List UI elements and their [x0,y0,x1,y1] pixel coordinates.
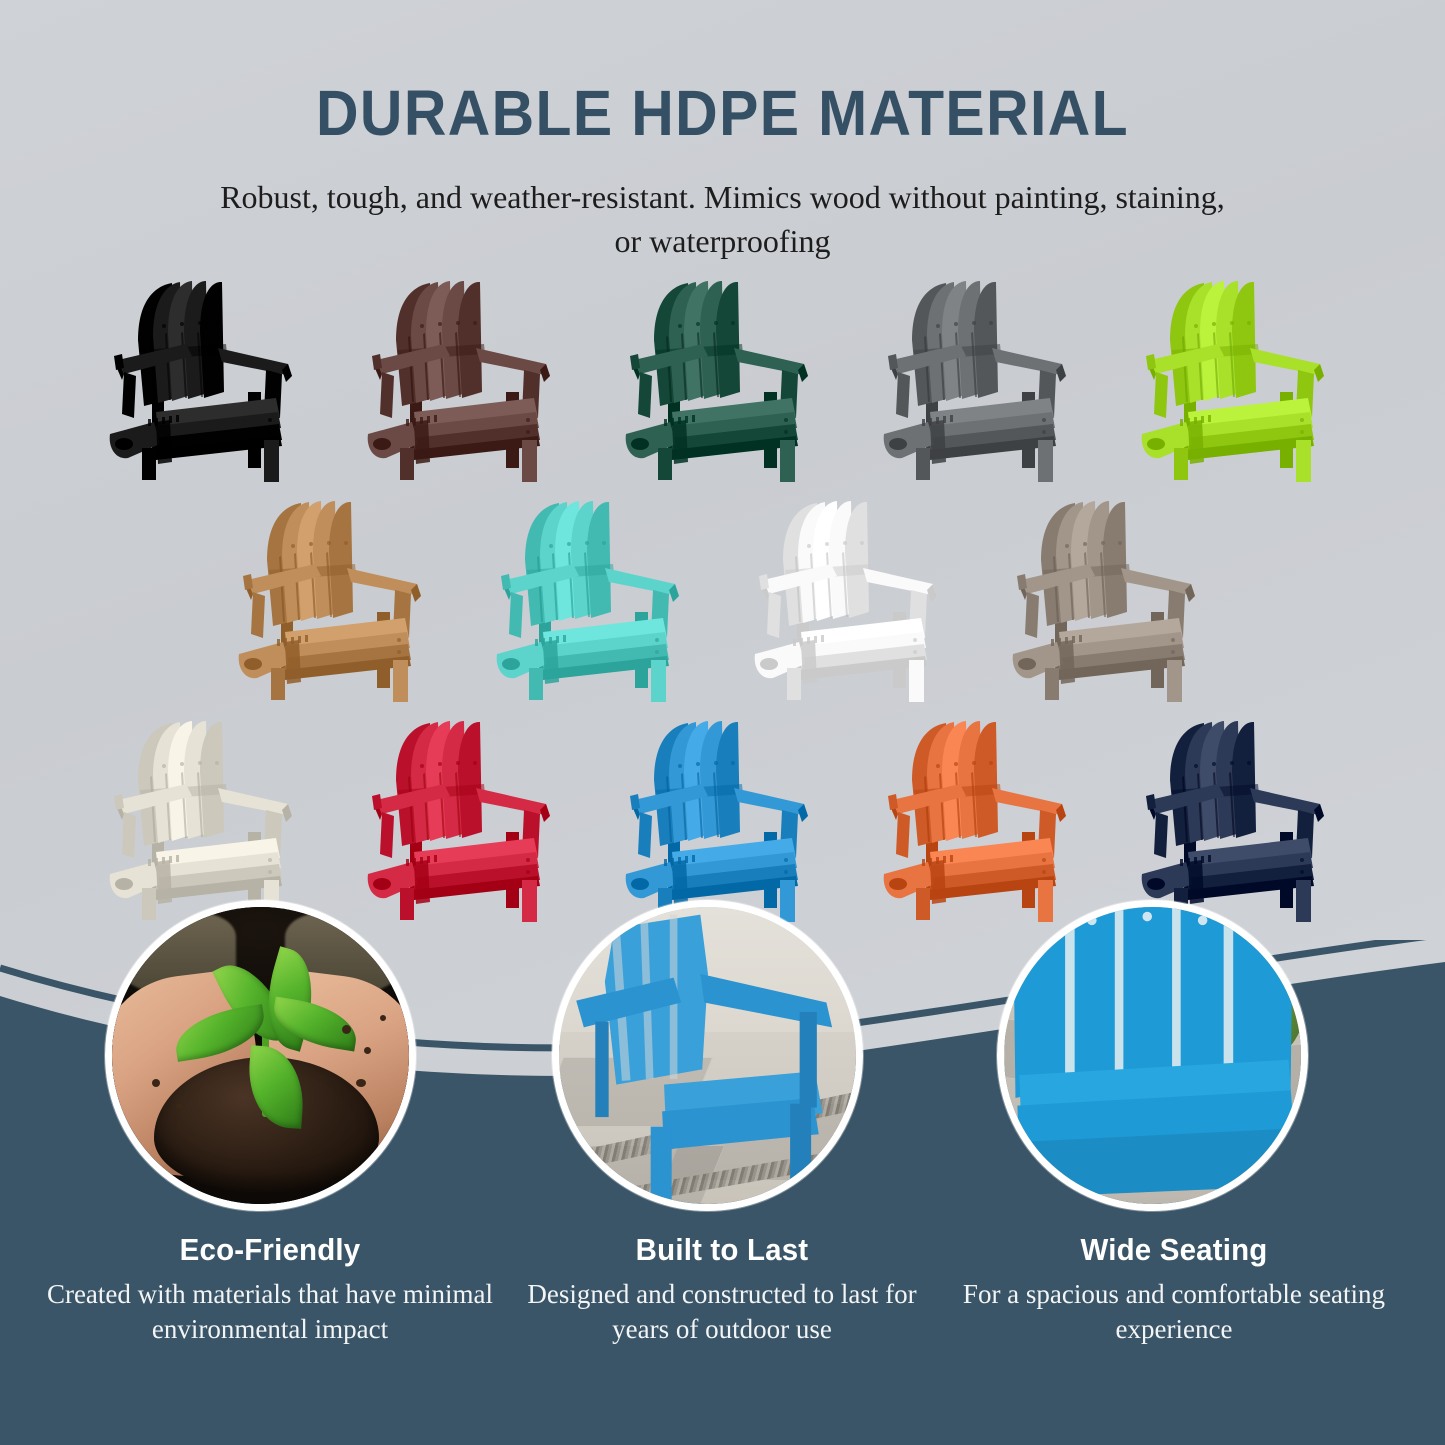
chair-row-1 [0,272,1445,484]
chair-swatch-dark-green[interactable] [614,272,832,484]
chair-swatch-light-blue[interactable] [614,712,832,924]
chair-swatch-gray[interactable] [872,272,1090,484]
chair-black [98,272,316,484]
chair-brown [356,272,574,484]
adirondack-chair-icon [614,272,832,484]
adirondack-chair-icon [1001,492,1219,704]
feature-photo-wide-seating [997,900,1308,1211]
feature-heading: Built to Last [508,1232,936,1268]
blue-chair-photo-shape [576,915,832,1203]
chair-swatch-weathered-wood[interactable] [1001,492,1219,704]
photo-blue-chair-patio [559,907,856,1204]
feature-photo-built-to-last [552,900,863,1211]
chair-swatch-orange[interactable] [872,712,1090,924]
adirondack-chair-icon [743,492,961,704]
chair-dark-green [614,272,832,484]
chair-ivory [98,712,316,924]
chair-orange [872,712,1090,924]
page-subtitle: Robust, tough, and weather-resistant. Mi… [218,175,1228,263]
chair-swatch-lime-green[interactable] [1130,272,1348,484]
infographic-canvas: DURABLE HDPE MATERIAL Robust, tough, and… [0,0,1445,1445]
chair-navy-blue [1130,712,1348,924]
adirondack-chair-icon [872,712,1090,924]
adirondack-chair-icon [356,712,574,924]
chair-row-2 [0,492,1445,704]
feature-body: Created with materials that have minimal… [45,1277,495,1347]
adirondack-chair-icon [98,272,316,484]
chair-swatch-navy-blue[interactable] [1130,712,1348,924]
chair-lime-green [1130,272,1348,484]
chair-swatch-white[interactable] [743,492,961,704]
chair-gray [872,272,1090,484]
chair-swatch-turquoise[interactable] [485,492,703,704]
feature-body: Designed and constructed to last for yea… [497,1277,947,1347]
blue-seat-closeup-shape [1014,907,1297,1197]
chair-light-blue [614,712,832,924]
feature-heading: Eco-Friendly [56,1232,484,1268]
adirondack-chair-icon [872,272,1090,484]
feature-wide-seating: Wide Seating For a spacious and comforta… [948,1232,1400,1347]
chair-turquoise [485,492,703,704]
chair-teak [227,492,445,704]
chair-row-3 [0,712,1445,924]
chair-white [743,492,961,704]
feature-eco-friendly: Eco-Friendly Created with materials that… [45,1232,495,1347]
chair-red [356,712,574,924]
chair-swatch-brown[interactable] [356,272,574,484]
chair-swatch-teak[interactable] [227,492,445,704]
chair-weathered-wood [1001,492,1219,704]
adirondack-chair-icon [227,492,445,704]
photo-hands-seedling [112,907,409,1204]
feature-photo-eco-friendly [105,900,416,1211]
page-title: DURABLE HDPE MATERIAL [58,76,1387,150]
chair-swatch-black[interactable] [98,272,316,484]
adirondack-chair-icon [356,272,574,484]
adirondack-chair-icon [614,712,832,924]
feature-body: For a spacious and comfortable seating e… [948,1277,1400,1347]
chair-color-grid [0,272,1445,924]
feature-heading: Wide Seating [959,1232,1388,1268]
chair-swatch-ivory[interactable] [98,712,316,924]
feature-built-to-last: Built to Last Designed and constructed t… [497,1232,947,1347]
chair-swatch-red[interactable] [356,712,574,924]
photo-blue-chair-seat-closeup [1004,907,1301,1204]
adirondack-chair-icon [1130,272,1348,484]
adirondack-chair-icon [485,492,703,704]
adirondack-chair-icon [1130,712,1348,924]
adirondack-chair-icon [98,712,316,924]
